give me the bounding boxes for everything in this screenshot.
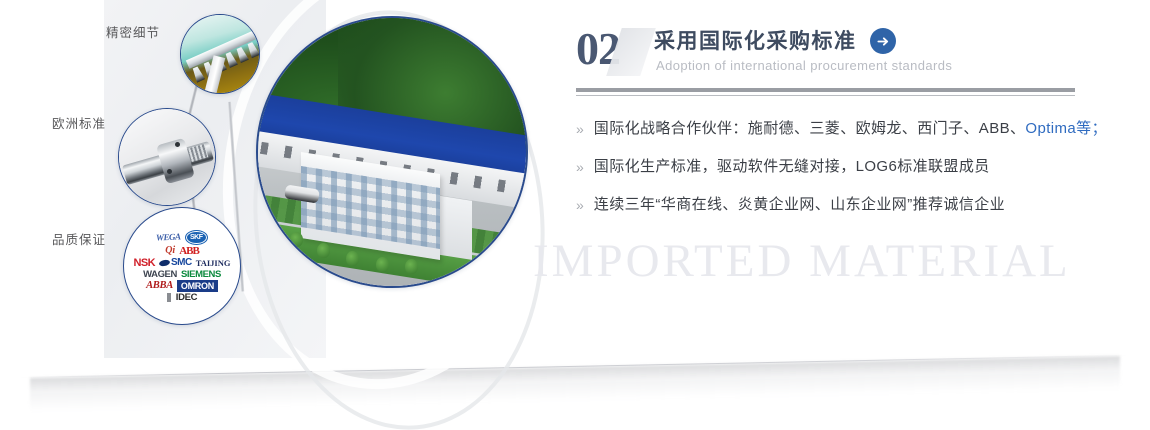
list-item-text-accent: Optima等； — [1025, 120, 1107, 137]
divider-thick — [576, 88, 1075, 92]
gear-detail-photo — [180, 14, 260, 94]
ball-screw-photo — [118, 108, 216, 206]
chevron-bullet-icon: » — [576, 194, 584, 216]
logo-nsk: NSK — [134, 258, 155, 269]
logo-row-4: WAGEN SIEMENS — [128, 270, 236, 280]
content-column: 02 采用国际化采购标准 Adoption of international p… — [576, 22, 1096, 84]
chevron-bullet-icon: » — [576, 156, 584, 178]
tree-1 — [317, 243, 330, 258]
gear-teeth-group — [186, 29, 260, 83]
label-quality-assurance: 品质保证 — [52, 229, 106, 248]
label-precision-detail: 精密细节 — [106, 22, 160, 41]
logo-row-1: WEGA SKF — [128, 230, 236, 245]
section-header: 02 采用国际化采购标准 Adoption of international p… — [576, 22, 1096, 84]
factory-aerial-photo — [256, 16, 528, 288]
list-item: » 国际化战略合作伙伴：施耐德、三菱、欧姆龙、西门子、ABB、Optima等； — [576, 118, 1096, 140]
floor-shadow — [30, 356, 1120, 412]
divider-thin — [576, 95, 1075, 96]
logo-abba: ABBA — [146, 281, 173, 292]
logo-row-6: IDEC — [128, 293, 236, 303]
factory-scene — [258, 18, 526, 286]
logo-row-5: ABBA OMRON — [128, 280, 236, 292]
brand-logo-collage: WEGA SKF Qi ABB NSK SMC TAIJING WAGEN SI… — [124, 208, 240, 324]
chevron-bullet-icon: » — [576, 118, 584, 140]
label-european-standard: 欧洲标准 — [52, 113, 106, 132]
feature-list: » 国际化战略合作伙伴：施耐德、三菱、欧姆龙、西门子、ABB、Optima等； … — [576, 118, 1096, 232]
logo-siemens: SIEMENS — [181, 270, 221, 280]
page-title: 采用国际化采购标准 — [654, 25, 857, 55]
list-item-text: 国际化生产标准，驱动软件无缝对接，LOG6标准联盟成员 — [594, 156, 990, 178]
logo-taijing: TAIJING — [196, 259, 231, 268]
logo-idec: IDEC — [176, 293, 198, 303]
logo-qi: Qi — [165, 246, 175, 256]
nut-hole-2 — [167, 169, 172, 174]
watermark-text: IMPORTED MATERIAL — [533, 234, 1071, 288]
ball-screw-scene — [119, 109, 215, 205]
logo-wagen: WAGEN — [143, 270, 177, 280]
arrow-right-icon[interactable] — [870, 28, 896, 54]
nut-hole-1 — [175, 142, 180, 147]
tree-3 — [376, 257, 389, 272]
promo-banner: 精密细节 欧洲标准 品质保证 — [0, 0, 1150, 430]
list-item: » 国际化生产标准，驱动软件无缝对接，LOG6标准联盟成员 — [576, 156, 1096, 178]
logo-row-2: Qi ABB — [128, 246, 236, 257]
office-windows — [301, 165, 440, 249]
logo-abb: ABB — [179, 246, 199, 257]
logo-smc: SMC — [171, 258, 192, 268]
list-item-text: 国际化战略合作伙伴：施耐德、三菱、欧姆龙、西门子、ABB、Optima等； — [594, 118, 1107, 140]
logo-skf: SKF — [185, 230, 208, 245]
brand-logos-photo: WEGA SKF Qi ABB NSK SMC TAIJING WAGEN SI… — [123, 207, 241, 325]
page-subtitle: Adoption of international procurement st… — [656, 58, 952, 73]
logo-wega: WEGA — [156, 232, 181, 242]
logo-row-3: NSK SMC TAIJING — [128, 258, 236, 269]
logo-omron: OMRON — [177, 280, 218, 292]
smc-dot-icon — [158, 259, 170, 267]
gear-scene — [181, 15, 259, 93]
idec-bar-icon — [167, 293, 171, 302]
list-item-text-main: 国际化战略合作伙伴：施耐德、三菱、欧姆龙、西门子、ABB、 — [594, 120, 1026, 137]
list-item: » 连续三年“华商在线、炎黄企业网、山东企业网”推荐诚信企业 — [576, 194, 1096, 216]
list-item-text: 连续三年“华商在线、炎黄企业网、山东企业网”推荐诚信企业 — [594, 194, 1005, 216]
